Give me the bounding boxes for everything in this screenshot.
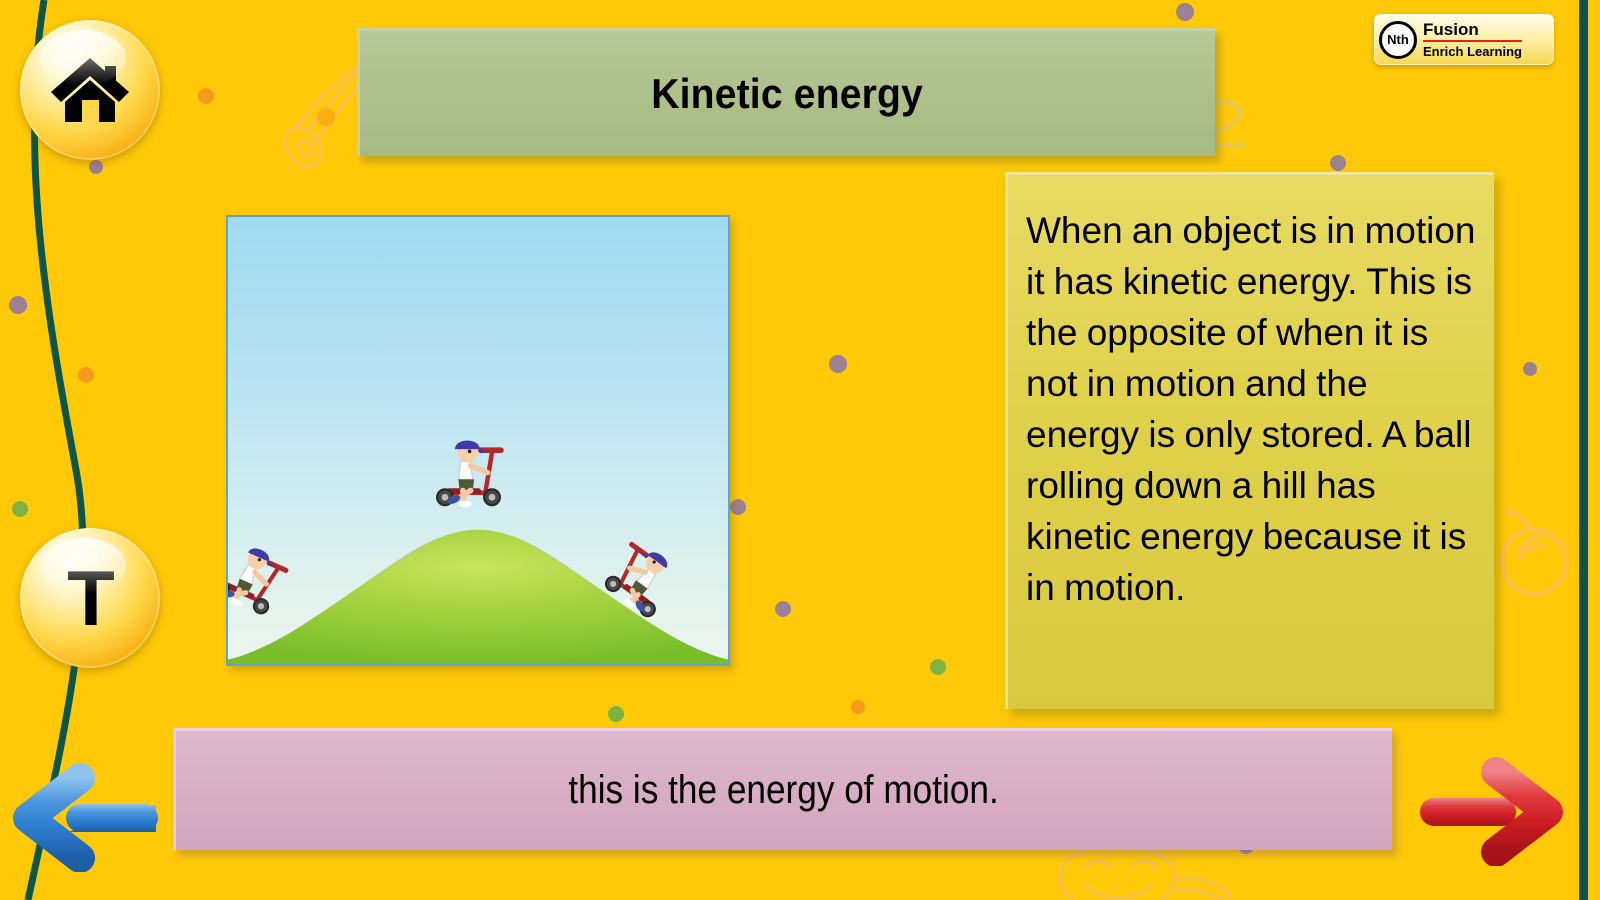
right-border-line bbox=[1579, 0, 1588, 900]
confetti-dot bbox=[851, 700, 865, 714]
confetti-dot bbox=[1330, 155, 1346, 171]
logo-subtitle: Enrich Learning bbox=[1423, 42, 1522, 58]
confetti-dot bbox=[1523, 362, 1537, 376]
logo-wordmark: Fusion Enrich Learning bbox=[1423, 21, 1522, 58]
lesson-illustration bbox=[226, 215, 730, 666]
confetti-dot bbox=[829, 355, 847, 373]
confetti-dot bbox=[12, 501, 28, 517]
confetti-dot bbox=[930, 659, 946, 675]
confetti-dot bbox=[198, 88, 214, 104]
confetti-dot bbox=[608, 706, 624, 722]
previous-slide-button[interactable] bbox=[8, 762, 160, 872]
scooter-hill-scene bbox=[228, 217, 728, 664]
confetti-dot bbox=[89, 160, 103, 174]
home-icon bbox=[49, 54, 131, 126]
next-slide-button[interactable] bbox=[1408, 756, 1570, 866]
brand-logo[interactable]: Nth Fusion Enrich Learning bbox=[1374, 14, 1554, 65]
caption-text: this is the energy of motion. bbox=[569, 768, 999, 813]
confetti-dot bbox=[775, 601, 791, 617]
confetti-dot bbox=[730, 499, 746, 515]
page-title: Kinetic energy bbox=[652, 70, 924, 118]
text-tool-label: T bbox=[67, 559, 113, 637]
slide-canvas: Kinetic energy bbox=[0, 0, 1600, 900]
confetti-dot bbox=[1176, 3, 1194, 21]
explanation-panel: When an object is in motion it has kinet… bbox=[1005, 172, 1494, 709]
explanation-text: When an object is in motion it has kinet… bbox=[1026, 205, 1476, 613]
confetti-dot bbox=[78, 367, 94, 383]
apple-watermark bbox=[1500, 500, 1580, 610]
home-button[interactable] bbox=[20, 20, 160, 160]
text-tool-button[interactable]: T bbox=[20, 528, 160, 668]
logo-title: Fusion bbox=[1423, 21, 1522, 42]
confetti-dot bbox=[9, 296, 27, 314]
logo-mark: Nth bbox=[1379, 21, 1417, 59]
caption-banner: this is the energy of motion. bbox=[173, 728, 1392, 850]
title-banner: Kinetic energy bbox=[357, 28, 1215, 156]
